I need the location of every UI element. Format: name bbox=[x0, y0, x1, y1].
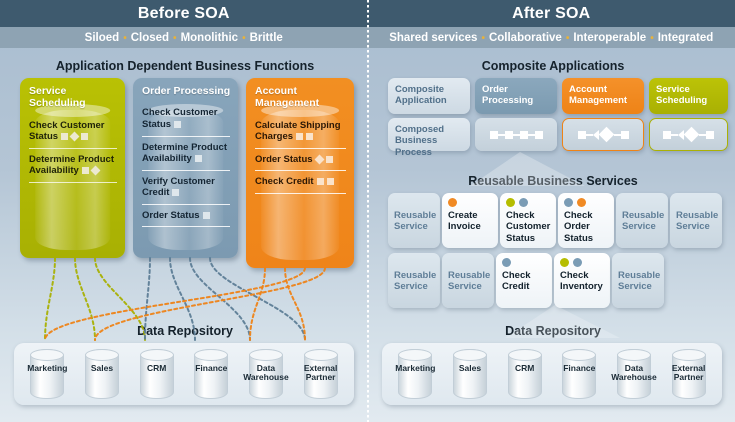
status-dot-olive-icon bbox=[560, 258, 569, 267]
silo-blue[interactable]: Order ProcessingCheck Customer StatusDet… bbox=[133, 78, 238, 258]
service-status-dots bbox=[622, 198, 664, 209]
reusable-service-card[interactable]: Reusable Service bbox=[616, 193, 668, 248]
silo-green[interactable]: Service SchedulingCheck Customer StatusD… bbox=[20, 78, 125, 258]
left-repository-title: Data Repository bbox=[10, 324, 360, 338]
composite-app-card[interactable]: Service Scheduling bbox=[649, 78, 728, 114]
subtitle-separator: • bbox=[173, 33, 177, 44]
diamond-marker-icon bbox=[314, 154, 324, 164]
flow-node-icon bbox=[490, 131, 498, 139]
square-marker-icon bbox=[306, 133, 313, 140]
status-dot-steel-icon bbox=[519, 198, 528, 207]
silo-function-item[interactable]: Determine Product Availability bbox=[142, 142, 230, 171]
square-marker-icon bbox=[327, 178, 334, 185]
database-label: External Partner bbox=[292, 364, 350, 383]
cylinder-icon bbox=[398, 349, 432, 399]
after-soa-title: After SOA bbox=[512, 5, 590, 23]
reusable-service-card[interactable]: Reusable Service bbox=[612, 253, 664, 308]
silo-title: Service Scheduling bbox=[20, 78, 125, 110]
cylinder-icon bbox=[562, 349, 596, 399]
silo-function-item[interactable]: Calculate Shipping Charges bbox=[255, 120, 346, 149]
service-status-dots bbox=[394, 258, 436, 269]
composite-app-label: Account Management bbox=[569, 84, 627, 106]
process-flow-graphic bbox=[663, 129, 714, 140]
status-dot-orange-icon bbox=[448, 198, 457, 207]
before-soa-title: Before SOA bbox=[138, 5, 230, 23]
reusable-service-card-active[interactable]: Check Customer Status bbox=[500, 193, 556, 248]
status-dot-olive-icon bbox=[506, 198, 515, 207]
composed-process-card[interactable] bbox=[649, 118, 728, 151]
subtitle-word: Collaborative bbox=[489, 32, 562, 44]
flow-node-icon bbox=[706, 131, 714, 139]
silo-function-item[interactable]: Determine Product Availability bbox=[29, 154, 117, 183]
database-label: Sales bbox=[73, 364, 131, 373]
silo-function-label: Determine Product Availability bbox=[142, 142, 227, 165]
service-label: Check Order Status bbox=[564, 210, 610, 244]
service-status-dots bbox=[448, 258, 490, 269]
reusable-service-card[interactable]: Reusable Service bbox=[388, 253, 440, 308]
service-status-dots bbox=[502, 258, 548, 269]
square-marker-icon bbox=[296, 133, 303, 140]
silo-function-item[interactable]: Order Status bbox=[142, 210, 230, 228]
silo-function-item[interactable]: Verify Customer Credit bbox=[142, 176, 230, 205]
database-cylinder[interactable]: Marketing bbox=[23, 347, 71, 401]
service-status-dots bbox=[448, 198, 494, 209]
database-cylinder[interactable]: External Partner bbox=[665, 347, 713, 401]
silo-function-item[interactable]: Order Status bbox=[255, 154, 346, 172]
database-cylinder[interactable]: CRM bbox=[501, 347, 549, 401]
reusable-service-card-active[interactable]: Check Order Status bbox=[558, 193, 614, 248]
square-marker-icon bbox=[317, 178, 324, 185]
process-flow-graphic bbox=[578, 129, 629, 140]
database-label: Data Warehouse bbox=[237, 364, 295, 383]
subtitle-word: Siloed bbox=[85, 32, 120, 44]
database-label: Marketing bbox=[18, 364, 76, 373]
composite-applications-title: Composite Applications bbox=[378, 59, 728, 73]
service-label: Reusable Service bbox=[676, 210, 718, 233]
service-label: Check Credit bbox=[502, 270, 548, 293]
subtitle-word: Integrated bbox=[658, 32, 714, 44]
right-data-repository: MarketingSalesCRMFinanceData WarehouseEx… bbox=[382, 343, 722, 405]
left-section-title: Application Dependent Business Functions bbox=[10, 59, 360, 73]
database-cylinder[interactable]: External Partner bbox=[297, 347, 345, 401]
flow-arrow-icon bbox=[593, 130, 599, 140]
status-dot-orange-icon bbox=[577, 198, 586, 207]
composed-process-card[interactable] bbox=[562, 118, 644, 151]
service-label: Reusable Service bbox=[394, 270, 436, 293]
flow-node-icon bbox=[663, 131, 671, 139]
flow-link-icon bbox=[586, 134, 593, 136]
square-marker-icon bbox=[82, 167, 89, 174]
after-soa-subtitle: Shared services•Collaborative•Interopera… bbox=[368, 27, 735, 48]
service-status-dots bbox=[506, 198, 552, 209]
square-marker-icon bbox=[172, 189, 179, 196]
silo-function-label: Order Status bbox=[142, 210, 200, 221]
reusable-service-card[interactable]: Reusable Service bbox=[388, 193, 440, 248]
database-cylinder[interactable]: Data Warehouse bbox=[610, 347, 658, 401]
cylinder-icon bbox=[140, 349, 174, 399]
reusable-service-card-active[interactable]: Check Credit bbox=[496, 253, 552, 308]
database-cylinder[interactable]: Finance bbox=[187, 347, 235, 401]
subtitle-separator: • bbox=[566, 33, 570, 44]
service-status-dots bbox=[676, 198, 718, 209]
database-label: Finance bbox=[550, 364, 608, 373]
diamond-marker-icon bbox=[90, 166, 100, 176]
subtitle-word: Shared services bbox=[389, 32, 477, 44]
composed-process-card[interactable] bbox=[475, 118, 557, 151]
flow-decision-icon bbox=[684, 127, 700, 143]
reusable-services-title: Reusable Business Services bbox=[378, 174, 728, 188]
square-marker-icon bbox=[174, 121, 181, 128]
right-repository-title: Data Repository bbox=[378, 324, 728, 338]
flow-node-icon bbox=[505, 131, 513, 139]
service-label: Create Invoice bbox=[448, 210, 494, 233]
composite-app-card[interactable]: Composite Application bbox=[388, 78, 470, 114]
flow-link-icon bbox=[528, 134, 535, 136]
composite-app-label: Composite Application bbox=[395, 84, 447, 106]
flow-link-icon bbox=[498, 134, 505, 136]
service-status-dots bbox=[564, 198, 610, 209]
flow-node-icon bbox=[621, 131, 629, 139]
cylinder-icon bbox=[194, 349, 228, 399]
status-dot-steel-icon bbox=[502, 258, 511, 267]
subtitle-separator: • bbox=[123, 33, 127, 44]
reusable-service-card[interactable]: Reusable Service bbox=[442, 253, 494, 308]
silo-function-item[interactable]: Check Customer Status bbox=[29, 120, 117, 149]
before-soa-subtitle-text: Siloed•Closed•Monolithic•Brittle bbox=[85, 32, 283, 44]
cylinder-icon bbox=[85, 349, 119, 399]
composed-process-label: Composed Business Process bbox=[395, 124, 444, 158]
flow-node-icon bbox=[520, 131, 528, 139]
silo-function-label: Determine Product Availability bbox=[29, 154, 114, 177]
silo-title: Order Processing bbox=[133, 78, 238, 97]
silo-function-item[interactable]: Check Credit bbox=[255, 176, 346, 194]
flow-decision-icon bbox=[598, 127, 614, 143]
service-label: Check Inventory bbox=[560, 270, 606, 293]
diamond-marker-icon bbox=[70, 132, 80, 142]
database-cylinder[interactable]: Sales bbox=[78, 347, 126, 401]
flow-node-icon bbox=[535, 131, 543, 139]
service-status-dots bbox=[394, 198, 436, 209]
composite-app-card[interactable]: Account Management bbox=[562, 78, 644, 114]
flow-link-icon bbox=[699, 134, 706, 136]
database-cylinder[interactable]: Finance bbox=[555, 347, 603, 401]
square-marker-icon bbox=[203, 212, 210, 219]
subtitle-word: Closed bbox=[131, 32, 169, 44]
database-cylinder[interactable]: CRM bbox=[133, 347, 181, 401]
after-soa-header: After SOA bbox=[368, 0, 735, 27]
reusable-service-card-active[interactable]: Create Invoice bbox=[442, 193, 498, 248]
service-label: Reusable Service bbox=[394, 210, 436, 233]
service-label: Reusable Service bbox=[618, 270, 660, 293]
after-soa-subtitle-text: Shared services•Collaborative•Interopera… bbox=[389, 32, 713, 44]
database-cylinder[interactable]: Data Warehouse bbox=[242, 347, 290, 401]
composed-process-card[interactable]: Composed Business Process bbox=[388, 118, 470, 151]
status-dot-steel-icon bbox=[564, 198, 573, 207]
database-cylinder[interactable]: Sales bbox=[446, 347, 494, 401]
flow-link-icon bbox=[513, 134, 520, 136]
composite-app-card[interactable]: Order Processing bbox=[475, 78, 557, 114]
cylinder-icon bbox=[453, 349, 487, 399]
panel-divider bbox=[367, 0, 369, 422]
subtitle-word: Interoperable bbox=[573, 32, 646, 44]
database-label: Finance bbox=[182, 364, 240, 373]
composite-app-label: Service Scheduling bbox=[656, 84, 707, 106]
database-cylinder[interactable]: Marketing bbox=[391, 347, 439, 401]
process-flow-graphic bbox=[490, 131, 543, 139]
subtitle-word: Brittle bbox=[250, 32, 283, 44]
left-data-repository: MarketingSalesCRMFinanceData WarehouseEx… bbox=[14, 343, 354, 405]
square-marker-icon bbox=[195, 155, 202, 162]
database-label: CRM bbox=[128, 364, 186, 373]
database-label: Data Warehouse bbox=[605, 364, 663, 383]
service-label: Reusable Service bbox=[448, 270, 490, 293]
square-marker-icon bbox=[326, 156, 333, 163]
subtitle-separator: • bbox=[650, 33, 654, 44]
square-marker-icon bbox=[61, 133, 68, 140]
service-label: Check Customer Status bbox=[506, 210, 552, 244]
database-label: CRM bbox=[496, 364, 554, 373]
before-soa-subtitle: Siloed•Closed•Monolithic•Brittle bbox=[0, 27, 368, 48]
square-marker-icon bbox=[81, 133, 88, 140]
silo-title: Account Management bbox=[246, 78, 354, 110]
composite-app-label: Order Processing bbox=[482, 84, 533, 106]
cylinder-icon bbox=[508, 349, 542, 399]
service-label: Reusable Service bbox=[622, 210, 664, 233]
subtitle-word: Monolithic bbox=[181, 32, 239, 44]
database-label: Sales bbox=[441, 364, 499, 373]
reusable-service-card[interactable]: Reusable Service bbox=[670, 193, 722, 248]
soa-comparison-diagram: Before SOA After SOA Siloed•Closed•Monol… bbox=[0, 0, 735, 422]
service-status-dots bbox=[560, 258, 606, 269]
status-dot-steel-icon bbox=[573, 258, 582, 267]
reusable-service-card-active[interactable]: Check Inventory bbox=[554, 253, 610, 308]
silo-function-label: Order Status bbox=[255, 154, 313, 165]
silo-orange[interactable]: Account ManagementCalculate Shipping Cha… bbox=[246, 78, 354, 268]
flow-link-icon bbox=[671, 134, 678, 136]
subtitle-separator: • bbox=[481, 33, 485, 44]
flow-node-icon bbox=[578, 131, 586, 139]
service-status-dots bbox=[618, 258, 660, 269]
before-soa-header: Before SOA bbox=[0, 0, 368, 27]
subtitle-separator: • bbox=[242, 33, 246, 44]
cylinder-icon bbox=[30, 349, 64, 399]
database-label: Marketing bbox=[386, 364, 444, 373]
silo-function-item[interactable]: Check Customer Status bbox=[142, 107, 230, 136]
silo-function-label: Check Credit bbox=[255, 176, 314, 187]
database-label: External Partner bbox=[660, 364, 718, 383]
